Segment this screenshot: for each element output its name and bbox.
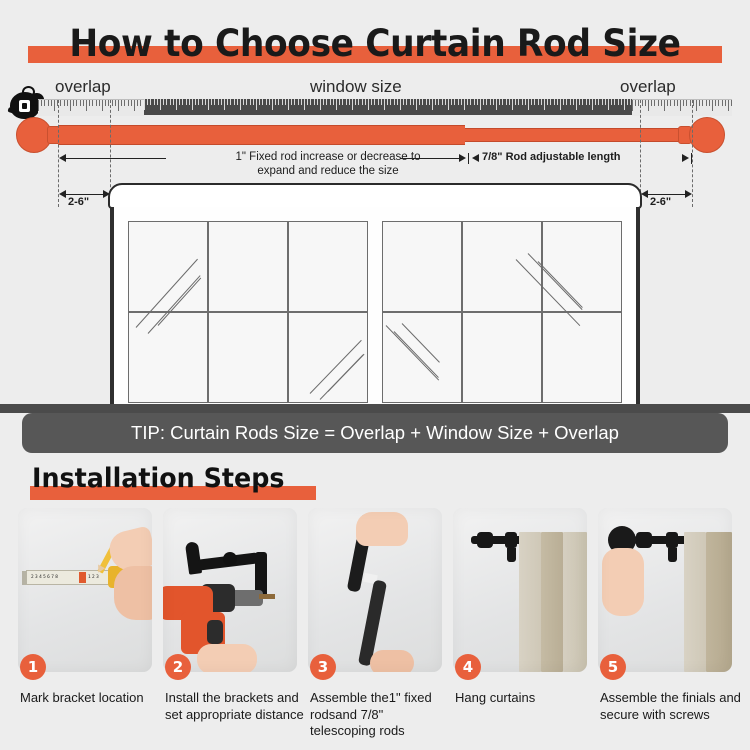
page-title: How to Choose Curtain Rod Size [26, 22, 724, 66]
window-pane [542, 312, 622, 403]
step-caption-3: Assemble the1" fixed rodsand 7/8" telesc… [310, 690, 452, 740]
window-frame [110, 207, 640, 407]
rod-adjustable-section [465, 128, 680, 142]
arrow-adjustable-left [472, 154, 479, 162]
step-photo-5 [598, 508, 732, 672]
step-number-4: 4 [455, 654, 481, 680]
infographic-canvas: How to Choose Curtain Rod Size overlap w… [0, 0, 750, 750]
step-caption-2: Install the brackets and set appropriate… [165, 690, 307, 723]
floor-line [0, 404, 750, 413]
dimline-overlap-left [66, 194, 108, 195]
window-pane [382, 221, 462, 312]
dimension-overlap-right-value: 2-6" [650, 196, 671, 208]
arrow-overlap-right-start [641, 190, 648, 198]
window-pane [128, 221, 208, 312]
dimline-fixed-right [400, 158, 460, 159]
label-overlap-left: overlap [55, 77, 111, 97]
window-pane [208, 221, 288, 312]
step-number-5: 5 [600, 654, 626, 680]
step-number-1: 1 [20, 654, 46, 680]
dimension-fixed-rod-line1: 1" Fixed rod increase or decrease to [236, 151, 421, 163]
step-caption-1: Mark bracket location [20, 690, 162, 707]
step-photo-2 [163, 508, 297, 672]
step-caption-4: Hang curtains [455, 690, 597, 707]
window-pane [208, 312, 288, 403]
dimline-fixed-left [66, 158, 166, 159]
label-window-size: window size [310, 77, 402, 97]
rod-fixed-section [58, 125, 465, 145]
step-number-2: 2 [165, 654, 191, 680]
arrow-overlap-left-start [59, 190, 66, 198]
step-photo-4 [453, 508, 587, 672]
page-title-block: How to Choose Curtain Rod Size [0, 22, 750, 70]
window-pane [128, 312, 208, 403]
ruler-segment-window [144, 99, 632, 115]
ruler-segment-right-overlap [632, 99, 732, 116]
window-pane [462, 312, 542, 403]
step-number-3: 3 [310, 654, 336, 680]
dimension-divider-tick-right [691, 153, 692, 164]
tip-text: TIP: Curtain Rods Size = Overlap + Windo… [131, 422, 619, 444]
guide-line-rod-right [692, 100, 693, 207]
window-pane [288, 221, 368, 312]
arrow-fixed-left [59, 154, 66, 162]
dimension-fixed-rod-line2: expand and reduce the size [257, 165, 398, 177]
label-overlap-right: overlap [620, 77, 676, 97]
window-pane [462, 221, 542, 312]
step-photo-1: 2345678 123 [18, 508, 152, 672]
step-photo-3 [308, 508, 442, 672]
dimension-adjustable-rod-text: 7/8" Rod adjustable length [482, 151, 620, 163]
tape-tail [7, 107, 16, 114]
dimension-divider-tick [468, 153, 469, 164]
installation-steps-row: 2345678 123 1 Mark bracket location [18, 508, 732, 744]
step-caption-5: Assemble the finials and secure with scr… [600, 690, 742, 723]
tip-banner: TIP: Curtain Rods Size = Overlap + Windo… [22, 413, 728, 453]
ruler-icon [38, 99, 732, 115]
arrow-adjustable-right [682, 154, 689, 162]
dimline-overlap-right [648, 194, 690, 195]
ruler-segment-left-overlap [38, 99, 144, 116]
arrow-overlap-right-end [685, 190, 692, 198]
window-pane-grid [114, 207, 636, 407]
tape-center-hole [19, 100, 30, 112]
window-pane [382, 312, 462, 403]
arrow-fixed-right [459, 154, 466, 162]
dimension-overlap-left-value: 2-6" [68, 196, 89, 208]
installation-heading: Installation Steps [32, 462, 284, 495]
dimension-fixed-rod-text: 1" Fixed rod increase or decrease to exp… [168, 150, 488, 178]
window-header-arch [108, 183, 642, 209]
finial-right [689, 117, 725, 153]
